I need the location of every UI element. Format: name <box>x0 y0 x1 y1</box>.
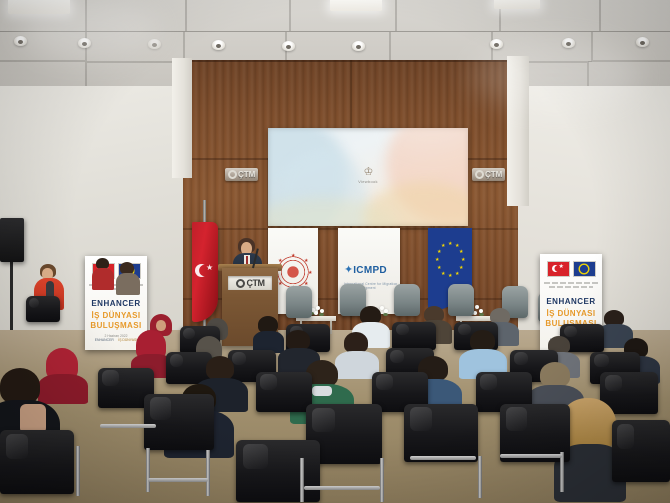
downlight-icon <box>148 39 161 49</box>
banner-footer-left: ENHANCER <box>95 338 114 342</box>
icmpd-name: ICMPD <box>353 265 387 276</box>
chair-leg <box>206 450 210 496</box>
downlight-icon <box>490 39 503 49</box>
chair-leg <box>560 452 564 492</box>
wall-logo-left: ÇTM <box>225 168 258 181</box>
podium-logo-ring-icon <box>236 279 245 288</box>
turkish-flag: ★ <box>192 222 218 322</box>
banner-title: ENHANCER <box>85 299 147 308</box>
downlight-icon <box>636 37 649 47</box>
banner-subtitle-1: İŞ DÜNYASI <box>85 311 147 320</box>
chair-leg <box>380 458 384 502</box>
chair-rail <box>500 454 562 458</box>
conference-hall-photo: ♔ Viewbook ÇTM ÇTM ★ ★ ★ ★ ★ ★ ★ ★ ✦ICMP… <box>0 0 670 503</box>
downlight-icon <box>78 38 91 48</box>
star-icon: ★ <box>206 263 213 272</box>
chair-back <box>26 296 60 322</box>
podium-logo-text: ÇTM <box>247 278 265 288</box>
turkey-flag-icon <box>547 261 570 277</box>
chair-back <box>404 404 478 462</box>
stage-chair <box>448 284 474 316</box>
chair-back <box>0 430 74 494</box>
chair-rail <box>100 424 156 428</box>
podium-logo-plate: ÇTM <box>228 276 272 290</box>
wall-logo-text: ÇTM <box>485 170 502 179</box>
chair-rail <box>148 478 208 482</box>
chair-leg <box>300 458 304 502</box>
chair-leg <box>146 448 150 492</box>
chair-back <box>236 440 320 502</box>
chair-back <box>256 372 312 412</box>
banner-footer-right: İŞ DÜNYASI <box>118 338 137 342</box>
icmpd-mark-icon: ✦ <box>344 265 353 276</box>
downlight-icon <box>14 36 27 46</box>
projection-screen: ♔ Viewbook <box>268 128 468 226</box>
chair-back <box>392 322 436 350</box>
screen-emblem-caption: Viewbook <box>358 179 378 184</box>
logo-ring-icon <box>475 170 484 179</box>
banner-flags <box>540 261 602 277</box>
downlight-icon <box>212 40 225 50</box>
logo-ring-icon <box>228 170 237 179</box>
chair-leg <box>478 456 482 498</box>
chair-back <box>144 394 214 450</box>
wall-logo-right: ÇTM <box>472 168 505 181</box>
banner-subtitle-1: İŞ DÜNYASI <box>540 309 602 318</box>
chair-back <box>612 420 670 482</box>
downlight-icon <box>352 41 365 51</box>
chair-rail <box>304 486 380 490</box>
downlight-icon <box>562 38 575 48</box>
downlight-icon <box>282 41 295 51</box>
pa-speaker <box>0 218 24 262</box>
ceiling-panel-light <box>8 0 70 14</box>
chair-rail <box>410 456 476 460</box>
eu-flag-icon <box>573 261 596 277</box>
screen-emblem: ♔ Viewbook <box>358 168 378 184</box>
banner-title: ENHANCER <box>540 297 602 306</box>
ceiling-panel-light <box>330 0 382 11</box>
speaker-stand <box>10 260 13 330</box>
pillar-right <box>507 56 529 206</box>
ceiling-panel-light <box>494 0 540 9</box>
stage-chair <box>394 284 420 316</box>
pillar-left <box>172 58 192 178</box>
wall-logo-text: ÇTM <box>238 170 255 179</box>
ministry-emblem-icon: ★ ★ ★ ★ ★ ★ ★ ★ <box>275 254 311 290</box>
screen-emblem-glyph: ♔ <box>358 168 378 177</box>
stage-chair <box>286 286 312 318</box>
chair-leg <box>76 446 80 496</box>
